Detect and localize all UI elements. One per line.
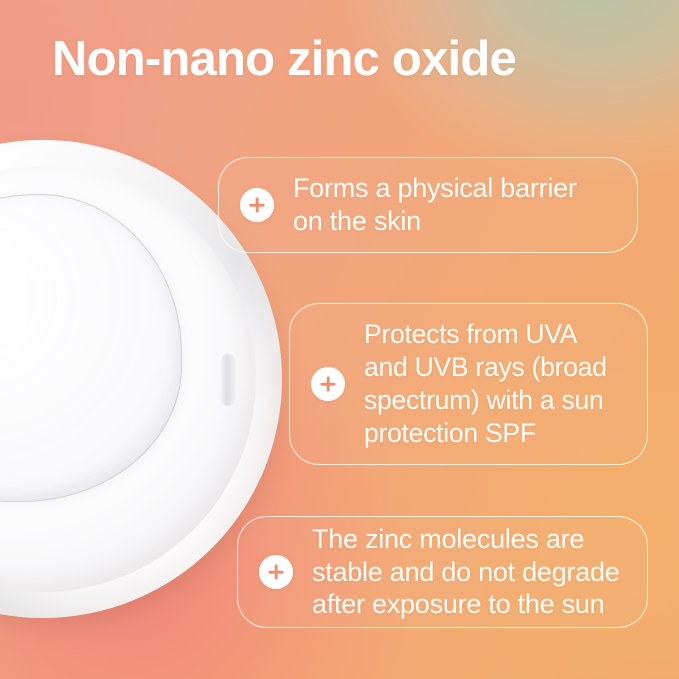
plus-icon: [240, 188, 274, 222]
product-edge-reflection: [220, 354, 236, 406]
feature-card-1-text: Forms a physical barrier on the skin: [293, 172, 577, 237]
feature-card-3-text: The zinc molecules are stable and do not…: [312, 523, 620, 621]
feature-card-1: Forms a physical barrier on the skin: [218, 157, 638, 253]
plus-icon: [311, 367, 345, 401]
product-infographic: Non-nano zinc oxide Forms a physical bar…: [0, 0, 679, 679]
feature-card-2: Protects from UVA and UVB rays (broad sp…: [289, 303, 648, 465]
feature-card-2-text: Protects from UVA and UVB rays (broad sp…: [364, 318, 607, 451]
page-title: Non-nano zinc oxide: [52, 33, 516, 86]
feature-card-3: The zinc molecules are stable and do not…: [237, 516, 648, 628]
plus-icon: [259, 555, 293, 589]
